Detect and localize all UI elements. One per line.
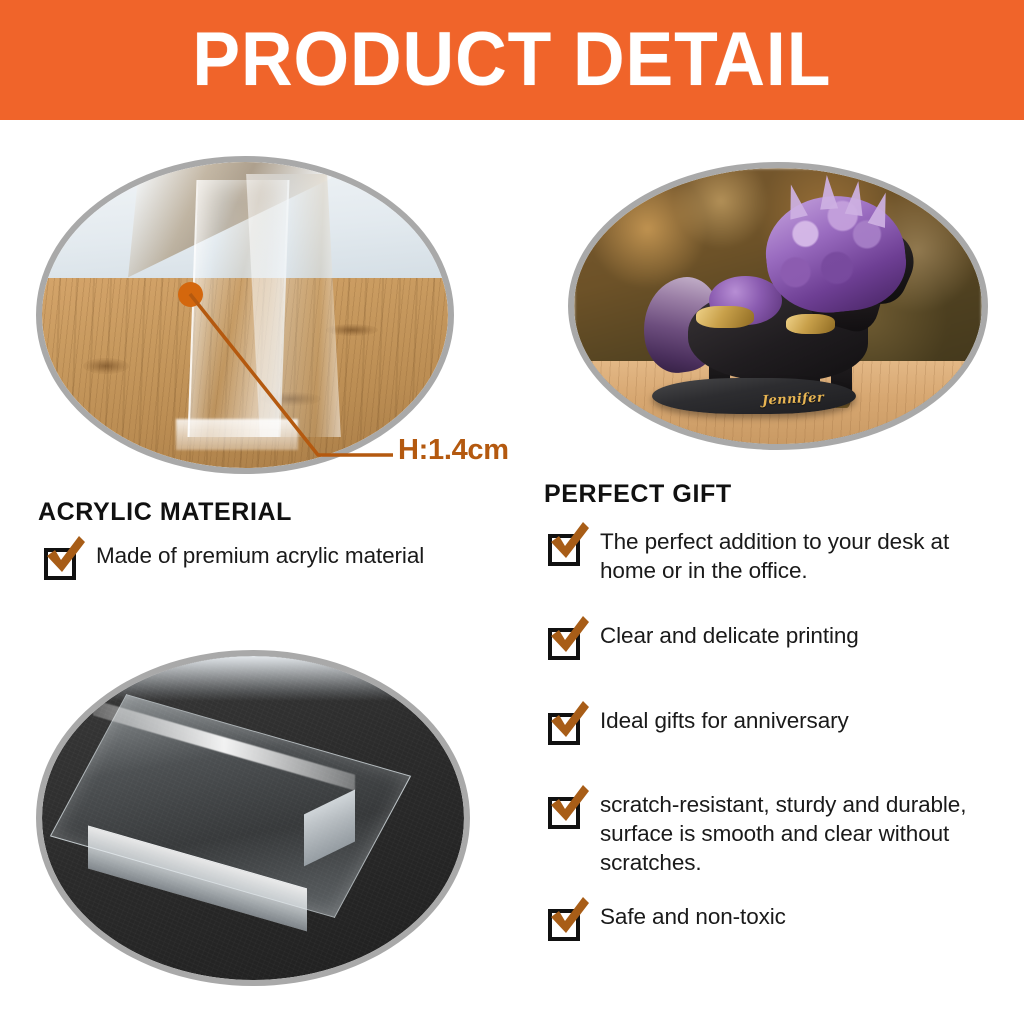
page-header-banner: PRODUCT DETAIL [0, 0, 1024, 120]
amethyst-spike [818, 175, 838, 210]
feature-item-label: Safe and non-toxic [600, 903, 786, 932]
gold-scrollwork [696, 306, 753, 328]
feature-item: Safe and non-toxic [548, 903, 998, 941]
checkmark-icon [548, 793, 584, 829]
checkmark-icon [548, 709, 584, 745]
acrylic-base-highlight [176, 419, 298, 450]
gold-scrollwork [786, 314, 835, 333]
measurement-label-height: H:1.4cm [398, 434, 509, 467]
check-tick-icon [546, 520, 592, 566]
photo-acrylic-block [36, 650, 470, 986]
check-tick-icon [546, 783, 592, 829]
feature-item-label: Ideal gifts for anniversary [600, 707, 849, 736]
feature-item-label: scratch-resistant, sturdy and durable, s… [600, 791, 1003, 877]
feature-item-label: Clear and delicate printing [600, 622, 859, 651]
feature-item: Ideal gifts for anniversary [548, 707, 998, 745]
slate-edge-highlight [84, 656, 422, 701]
check-tick-icon [546, 699, 592, 745]
check-tick-icon [546, 895, 592, 941]
section-heading-perfect-gift: PERFECT GIFT [544, 480, 732, 509]
photo-horse-figurine: Jennifer [568, 162, 988, 450]
page-title: PRODUCT DETAIL [193, 22, 832, 98]
feature-item: Clear and delicate printing [548, 622, 998, 660]
acrylic-side-face [246, 174, 341, 437]
measurement-anchor-dot [178, 282, 203, 307]
wood-grain-knot [83, 358, 129, 374]
checkmark-icon [548, 530, 584, 566]
feature-item-label: The perfect addition to your desk at hom… [600, 528, 998, 586]
engraved-name-text: Jennifer [761, 390, 824, 408]
feature-item-label: Made of premium acrylic material [96, 542, 424, 571]
feature-item: Made of premium acrylic material [44, 542, 514, 580]
check-tick-icon [42, 534, 88, 580]
photo-acrylic-edge [36, 156, 454, 474]
feature-item: scratch-resistant, sturdy and durable, s… [548, 791, 1003, 877]
section-heading-acrylic-material: ACRYLIC MATERIAL [38, 498, 292, 527]
check-tick-icon [546, 614, 592, 660]
photo-acrylic-edge-content [42, 162, 448, 468]
feature-item: The perfect addition to your desk at hom… [548, 528, 998, 586]
figurine-stone-base [652, 378, 856, 414]
checkmark-icon [548, 624, 584, 660]
checkmark-icon [548, 905, 584, 941]
photo-acrylic-block-content [42, 656, 464, 980]
checkmark-icon [44, 544, 80, 580]
photo-horse-figurine-content: Jennifer [574, 168, 982, 444]
